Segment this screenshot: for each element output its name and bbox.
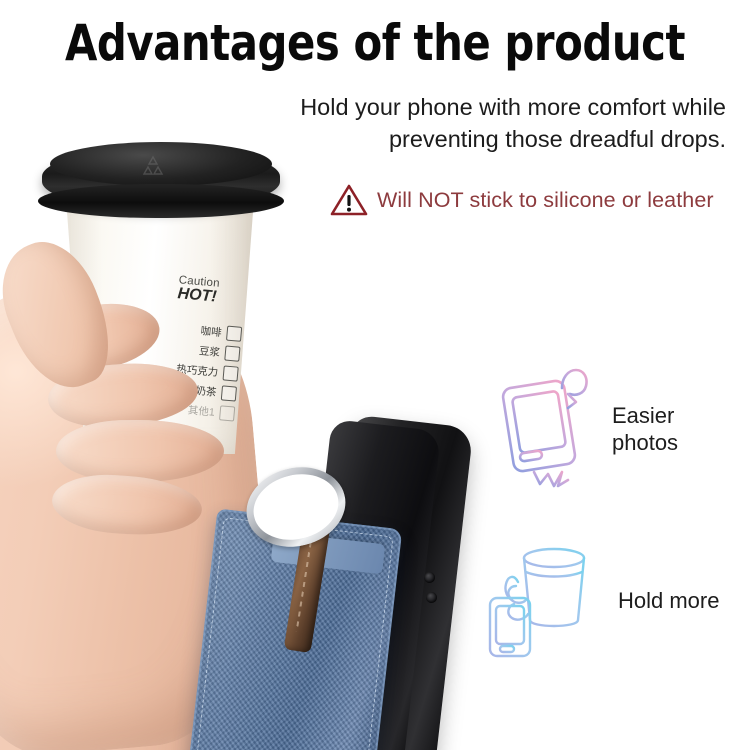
feature-hold-more: Hold more [488, 534, 719, 669]
checkbox-icon [226, 326, 242, 342]
feature-easier-photos: Easier photos [498, 352, 678, 507]
checklist-label: 奶茶 [195, 383, 217, 400]
warning-notice: Will NOT stick to silicone or leather [330, 183, 714, 217]
phone-camera-thumb-icon [498, 352, 598, 507]
checklist-label: 咖啡 [200, 323, 222, 340]
page-title: Advantages of the product [26, 16, 724, 71]
checkbox-icon [219, 405, 235, 421]
warning-text: Will NOT stick to silicone or leather [377, 188, 714, 213]
feature-label: Easier photos [612, 403, 678, 457]
checkbox-icon [223, 365, 239, 381]
checkbox-icon [221, 385, 237, 401]
subtitle-line-2: preventing those dreadful drops. [206, 124, 726, 156]
recycle-icon [140, 154, 166, 185]
subtitle-line-1: Hold your phone with more comfort while [300, 94, 726, 120]
cup-caution-label: Caution HOT! [177, 274, 220, 306]
feature-label: Hold more [618, 588, 719, 615]
subtitle: Hold your phone with more comfort while … [206, 92, 726, 155]
checklist-label: 其他1 [187, 403, 215, 420]
checkbox-icon [224, 346, 240, 362]
checklist-label: 豆浆 [198, 343, 220, 360]
hand-holding-cup-and-phone-icon [488, 534, 608, 669]
checklist-row: 豆浆 [177, 341, 240, 361]
product-banner: Caution HOT! 咖啡 豆浆 热巧克力 奶茶 [0, 0, 750, 750]
cup-lid-rim [38, 184, 284, 218]
caution-big-text: HOT! [177, 286, 219, 306]
warning-triangle-icon [330, 183, 368, 217]
ring-finger [56, 420, 224, 482]
